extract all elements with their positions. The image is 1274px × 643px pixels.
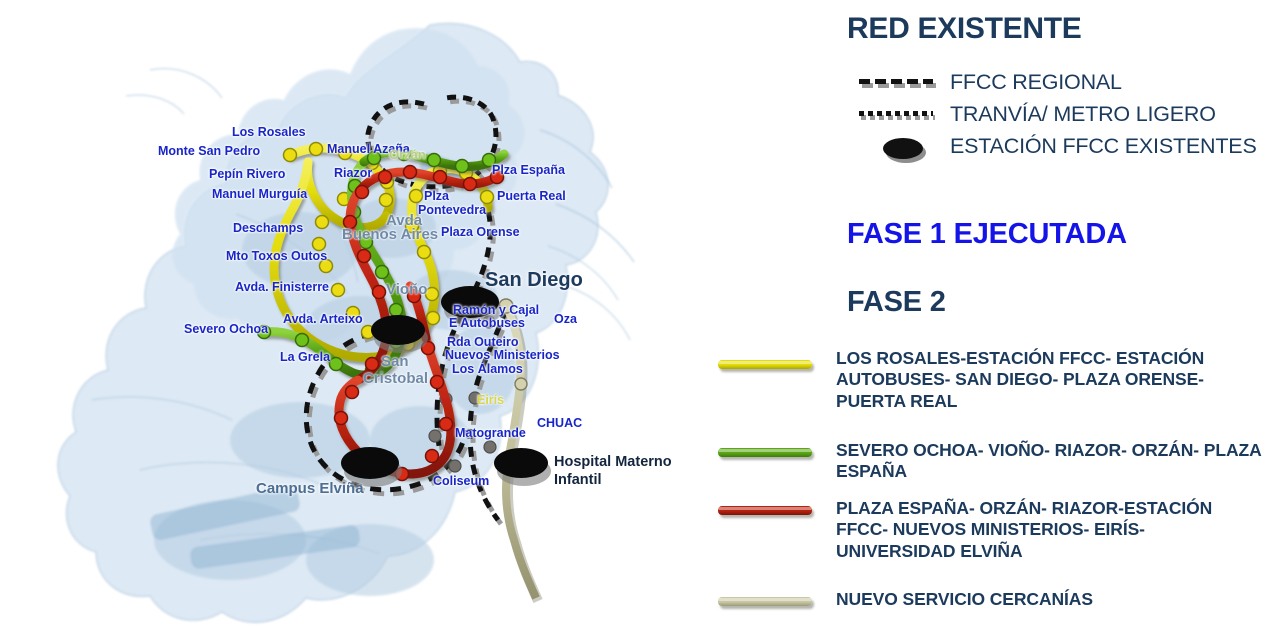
- map-district-label: San: [381, 354, 409, 370]
- map-station-label: Matogrande: [455, 427, 526, 440]
- legend-panel: RED EXISTENTE FFCC REGIONAL TRANVÍA/ MET…: [716, 0, 1274, 643]
- map-station-label: Coliseum: [433, 475, 489, 488]
- map-station-label: Mto Toxos Outos: [226, 250, 327, 263]
- map-special-label: Orzán: [389, 148, 426, 162]
- line-swatch-cercanias: [718, 597, 812, 606]
- map-district-label: Vioño: [386, 282, 427, 298]
- line-swatch-yellow: [718, 360, 812, 369]
- map-station-label: Puerta Real: [497, 190, 566, 203]
- legend-label-estacion-ffcc: ESTACIÓN FFCC EXISTENTES: [950, 134, 1257, 159]
- map-station-label: Oza: [554, 313, 577, 326]
- dotted-line-icon: [847, 105, 933, 125]
- legend-title-fase-2: FASE 2: [847, 286, 946, 319]
- map-station-label: Manuel Murguía: [212, 188, 307, 201]
- map-panel: Los RosalesMonte San PedroManuel AzañaPe…: [0, 0, 716, 643]
- map-area-label: San Diego: [485, 270, 583, 291]
- legend-label-line-green: SEVERO OCHOA- VIOÑO- RIAZOR- ORZÁN- PLAZ…: [836, 440, 1268, 483]
- map-station-label: Avda. Arteixo: [283, 313, 363, 326]
- transit-plan-figure: Los RosalesMonte San PedroManuel AzañaPe…: [0, 0, 1274, 643]
- legend-item-line-red: PLAZA ESPAÑA- ORZÁN- RIAZOR-ESTACIÓN FFC…: [716, 498, 1268, 562]
- legend-item-tranvia: TRANVÍA/ METRO LIGERO: [847, 102, 1216, 127]
- map-poi-label: Hospital Materno: [554, 455, 672, 470]
- map-special-label: Eirís: [477, 394, 504, 407]
- legend-item-line-yellow: LOS ROSALES-ESTACIÓN FFCC- ESTACIÓN AUTO…: [716, 348, 1268, 412]
- map-station-label: Plaza Orense: [441, 226, 520, 239]
- legend-label-line-red: PLAZA ESPAÑA- ORZÁN- RIAZOR-ESTACIÓN FFC…: [836, 498, 1268, 562]
- legend-item-ffcc-regional: FFCC REGIONAL: [847, 70, 1122, 95]
- map-station-label: Monte San Pedro: [158, 145, 260, 158]
- station-estacion-ffcc: [371, 315, 425, 345]
- legend-label-line-cercanias: NUEVO SERVICIO CERCANÍAS: [836, 589, 1268, 610]
- legend-item-line-cercanias: NUEVO SERVICIO CERCANÍAS: [716, 589, 1268, 610]
- legend-item-line-green: SEVERO OCHOA- VIOÑO- RIAZOR- ORZÁN- PLAZ…: [716, 440, 1268, 483]
- map-station-label: Riazor: [334, 167, 372, 180]
- black-ellipse-station-icon: [847, 137, 933, 157]
- map-station-label: La Grela: [280, 351, 330, 364]
- map-station-label: Los Rosales: [232, 126, 306, 139]
- legend-label-tranvia: TRANVÍA/ METRO LIGERO: [950, 102, 1216, 127]
- map-station-label: Severo Ochoa: [184, 323, 268, 336]
- map-station-label: Plza España: [492, 164, 565, 177]
- station-hospital: [494, 448, 548, 478]
- line-swatch-green: [718, 448, 812, 457]
- map-station-label: Plza: [424, 190, 449, 203]
- map-station-label: Los Álamos: [452, 363, 523, 376]
- map-campus-label: Campus Elviña: [256, 481, 364, 497]
- legend-label-ffcc-regional: FFCC REGIONAL: [950, 70, 1122, 95]
- dashed-line-icon: [847, 73, 933, 93]
- map-station-label: CHUAC: [537, 417, 582, 430]
- map-station-label: E Autobuses: [449, 317, 525, 330]
- line-swatch-red: [718, 506, 812, 515]
- map-poi-label: Infantil: [554, 473, 602, 488]
- map-station-label: Nuevos Ministerios: [445, 349, 560, 362]
- map-station-label: Pepín Rivero: [209, 168, 285, 181]
- station-elvina: [341, 447, 399, 479]
- map-station-label: Pontevedra: [418, 204, 486, 217]
- map-district-label: Cristobal: [363, 371, 428, 387]
- legend-label-line-yellow: LOS ROSALES-ESTACIÓN FFCC- ESTACIÓN AUTO…: [836, 348, 1268, 412]
- legend-title-red-existente: RED EXISTENTE: [847, 12, 1081, 46]
- legend-item-estacion-ffcc: ESTACIÓN FFCC EXISTENTES: [847, 134, 1257, 159]
- legend-title-fase-1: FASE 1 EJECUTADA: [847, 218, 1127, 251]
- map-station-label: Deschamps: [233, 222, 303, 235]
- map-district-label: Buenos Aires: [342, 227, 438, 243]
- map-station-label: Avda. Finisterre: [235, 281, 329, 294]
